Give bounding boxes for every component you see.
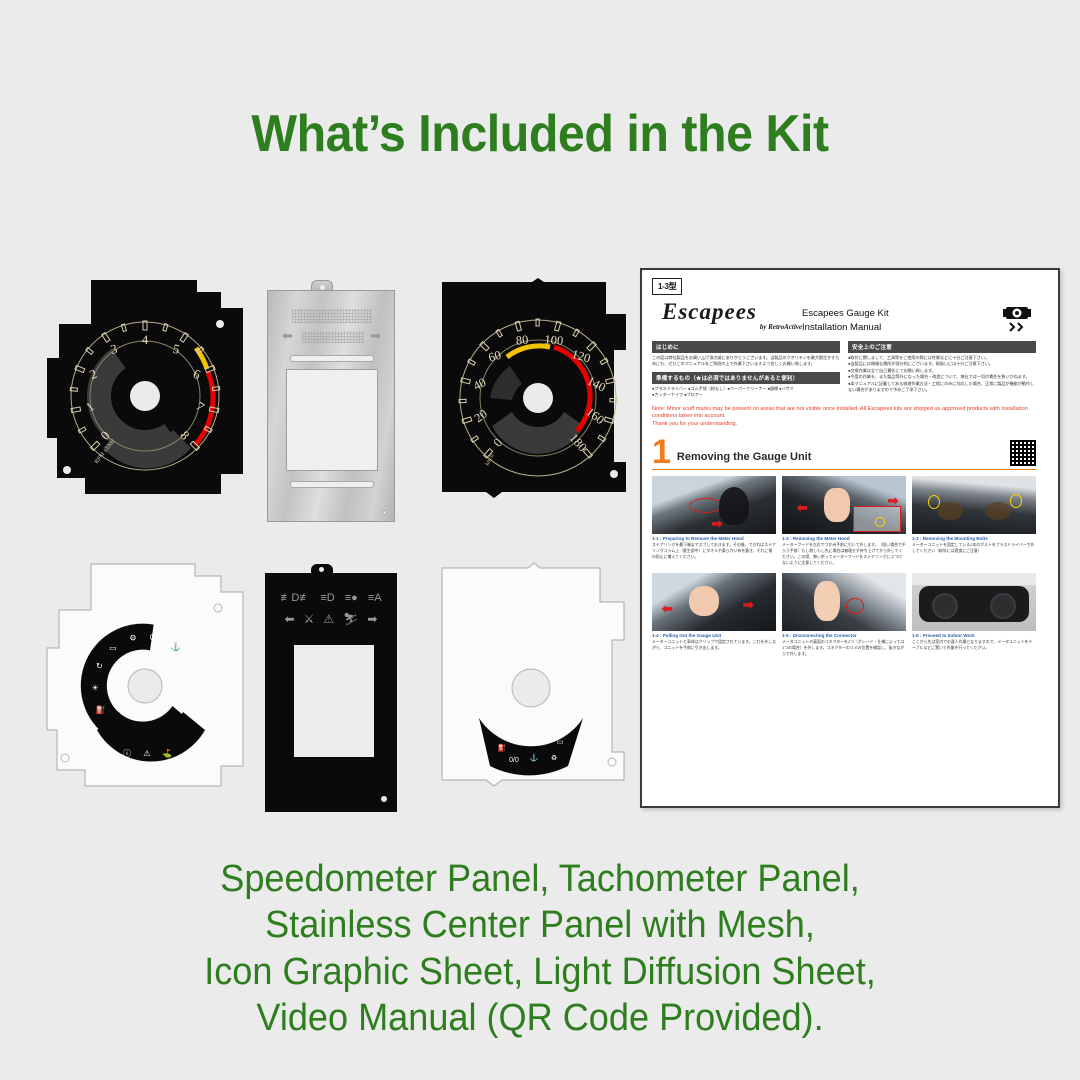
tachometer-panel: 012345678 RPM x1000	[45, 278, 255, 518]
manual-title-line1: Escapees Gauge Kit	[802, 307, 1002, 321]
photo-caption-body: ステアリングを最下端までズブしておきます。その後、できればステアリングコラム上（…	[652, 542, 776, 560]
warning-icon: ⛽	[96, 704, 106, 714]
step-photo	[782, 573, 906, 631]
kit-contents-caption: Speedometer Panel, Tachometer Panel, Sta…	[27, 856, 1053, 1041]
caption-line-2: Stainless Center Panel with Mesh,	[27, 902, 1053, 948]
mounting-hole	[382, 510, 387, 515]
warning-icon: ☀	[91, 684, 98, 693]
icon-graphic-sheet: ⛽☀↻▭⚙0/0⚓♻ⓘ⚠⛳◎	[45, 560, 255, 810]
photo-caption-title: 1-3 : Removing the Mounting Bolts	[912, 536, 1036, 541]
brand-logo: Escapees	[662, 299, 802, 325]
scuff-note: Note: Minor scuff marks may be present o…	[652, 406, 1036, 430]
high-beam-icon: ≡●	[345, 593, 358, 604]
warning-icon: ⚙	[129, 633, 136, 642]
photo-caption-body: メーターフードを左右でつかみ手前に引いて外します。（固い場合で平らう手前）もし物…	[782, 542, 906, 565]
diffusion-icon: 0/0	[509, 757, 519, 764]
intro-section-body: この度は弊社製品をお買い上げ頂き誠にありがとうございます。当製品のクオリティを最…	[652, 355, 840, 368]
mounting-hole	[381, 796, 387, 802]
photo-caption-body: メーターユニットを固定している2本のボルトをプラスドライバーで外してください（較…	[912, 542, 1036, 554]
mesh-area	[292, 309, 372, 323]
fog-light-front-icon: ≡D	[320, 593, 334, 604]
step-photo: ⬅ ➡	[652, 573, 776, 631]
photo-caption-body: ここから先は室内での違人作業となりますので、メータユニットをテーブルなどに置いて…	[912, 639, 1036, 651]
safety-section-body: ●取付に関しまして、工具等をご使用の際には性質などに十分ご注意下さい。 ●当製品…	[848, 355, 1036, 394]
step-number: 1	[652, 439, 671, 466]
warning-icon: ◎	[184, 749, 191, 758]
prepare-section-body: ●プラスドライバー ●ゴム手袋（粉なし）●ペーパークリーナー ●銀綿 ●ハサミ …	[652, 386, 840, 399]
light-diffusion-sheet: ⛽☀↻▭⚙0/0⚓♻	[428, 560, 640, 810]
turn-left-icon: ⬅	[285, 613, 295, 625]
photo-caption-title: 1-5 : Disconnecting the Connector	[782, 633, 906, 638]
dial-number: 4	[142, 332, 149, 347]
step-photo: ⬅ ➡	[782, 476, 906, 534]
page-title: What’s Included in the Kit	[38, 104, 1042, 164]
warning-icon: ⚠	[143, 749, 150, 758]
turn-right-arrow-icon: ➡	[370, 329, 381, 342]
photo-caption-body: メータユニットの裏面のコネクターを2つ（グレード・仕様によっては1つの場合）を外…	[782, 639, 906, 657]
photo-caption-title: 1-6 : Proceed to Indoor Work	[912, 633, 1036, 638]
qr-code-icon[interactable]	[1010, 440, 1036, 466]
fuel-icon: ⛷	[343, 613, 358, 625]
photo-caption-body: メーターユニットと車体はクリップで固定されています。これを外しながら、ユニットを…	[652, 639, 776, 651]
gauge-unit-icon	[1002, 299, 1036, 334]
installation-manual: 1-3型 Escapees by RetroActive Escapees Ga…	[640, 268, 1060, 808]
dial-number: 80	[515, 333, 529, 348]
photo-caption-title: 1-2 : Removing the Meter Hood	[782, 536, 906, 541]
warning-icon: ↻	[96, 662, 103, 671]
diffusion-icon: ⛽	[498, 743, 507, 752]
prepare-section-header: 準備するもの（★は必須ではありませんがあると便利）	[652, 372, 840, 384]
warning-icon: ⛳	[162, 748, 172, 758]
speedometer-panel: 020406080100120140160180 km/h	[428, 276, 640, 520]
photo-caption-title: 1-1 : Preparing to Remove the Meter Hood	[652, 536, 776, 541]
stainless-center-panel: ⬅ ➡	[267, 280, 395, 522]
lower-slot	[290, 481, 374, 488]
manual-title-line2: Installation Manual	[802, 321, 1002, 335]
indicator-center-sheet: ≢D≢ ≡D ≡● ≡A ⬅ ⚔ ⚠ ⛷ ➡	[265, 564, 397, 812]
warning-icon: ⚓	[171, 642, 181, 652]
auto-headlight-icon: ≡A	[368, 593, 382, 604]
step-photo	[912, 476, 1036, 534]
diffusion-icon: ▭	[557, 739, 564, 746]
diffusion-icon: ⚓	[530, 753, 539, 762]
warning-icon: ♻	[103, 749, 110, 758]
step-divider	[652, 469, 1036, 471]
warning-icon: 0/0	[150, 633, 162, 642]
caption-line-1: Speedometer Panel, Tachometer Panel,	[27, 856, 1053, 902]
display-window-cutout	[286, 369, 378, 471]
turn-right-icon: ➡	[367, 613, 377, 625]
diffusion-icon: ⚙	[573, 746, 579, 754]
safety-section-header: 安全上のご注意	[848, 341, 1036, 353]
diffusion-icon: ♻	[551, 755, 557, 762]
caption-line-3: Icon Graphic Sheet, Light Diffusion Shee…	[27, 949, 1053, 995]
seatbelt-icon: ⚔	[304, 613, 315, 625]
step-photo: ➡	[652, 476, 776, 534]
model-type-badge: 1-3型	[652, 278, 682, 295]
fog-light-rear-icon: ≢D≢	[280, 593, 310, 604]
hazard-warning-icon: ⚠	[323, 613, 334, 625]
caption-line-4: Video Manual (QR Code Provided).	[27, 995, 1053, 1041]
warning-icon: ▭	[109, 644, 117, 653]
light-window	[294, 645, 374, 757]
diffusion-icon: ☀	[517, 736, 523, 744]
dial-number: 100	[544, 332, 564, 348]
photo-caption-title: 1-4 : Pulling Out the Gauge Unit	[652, 633, 776, 638]
warning-icon: ⓘ	[123, 749, 131, 758]
intro-section-header: はじめに	[652, 341, 840, 353]
step-photo	[912, 573, 1036, 631]
step-title: Removing the Gauge Unit	[677, 451, 811, 463]
turn-left-arrow-icon: ⬅	[282, 329, 293, 342]
diffusion-icon: ↻	[537, 733, 543, 740]
mesh-area-2	[302, 331, 364, 343]
upper-slot	[290, 355, 374, 362]
